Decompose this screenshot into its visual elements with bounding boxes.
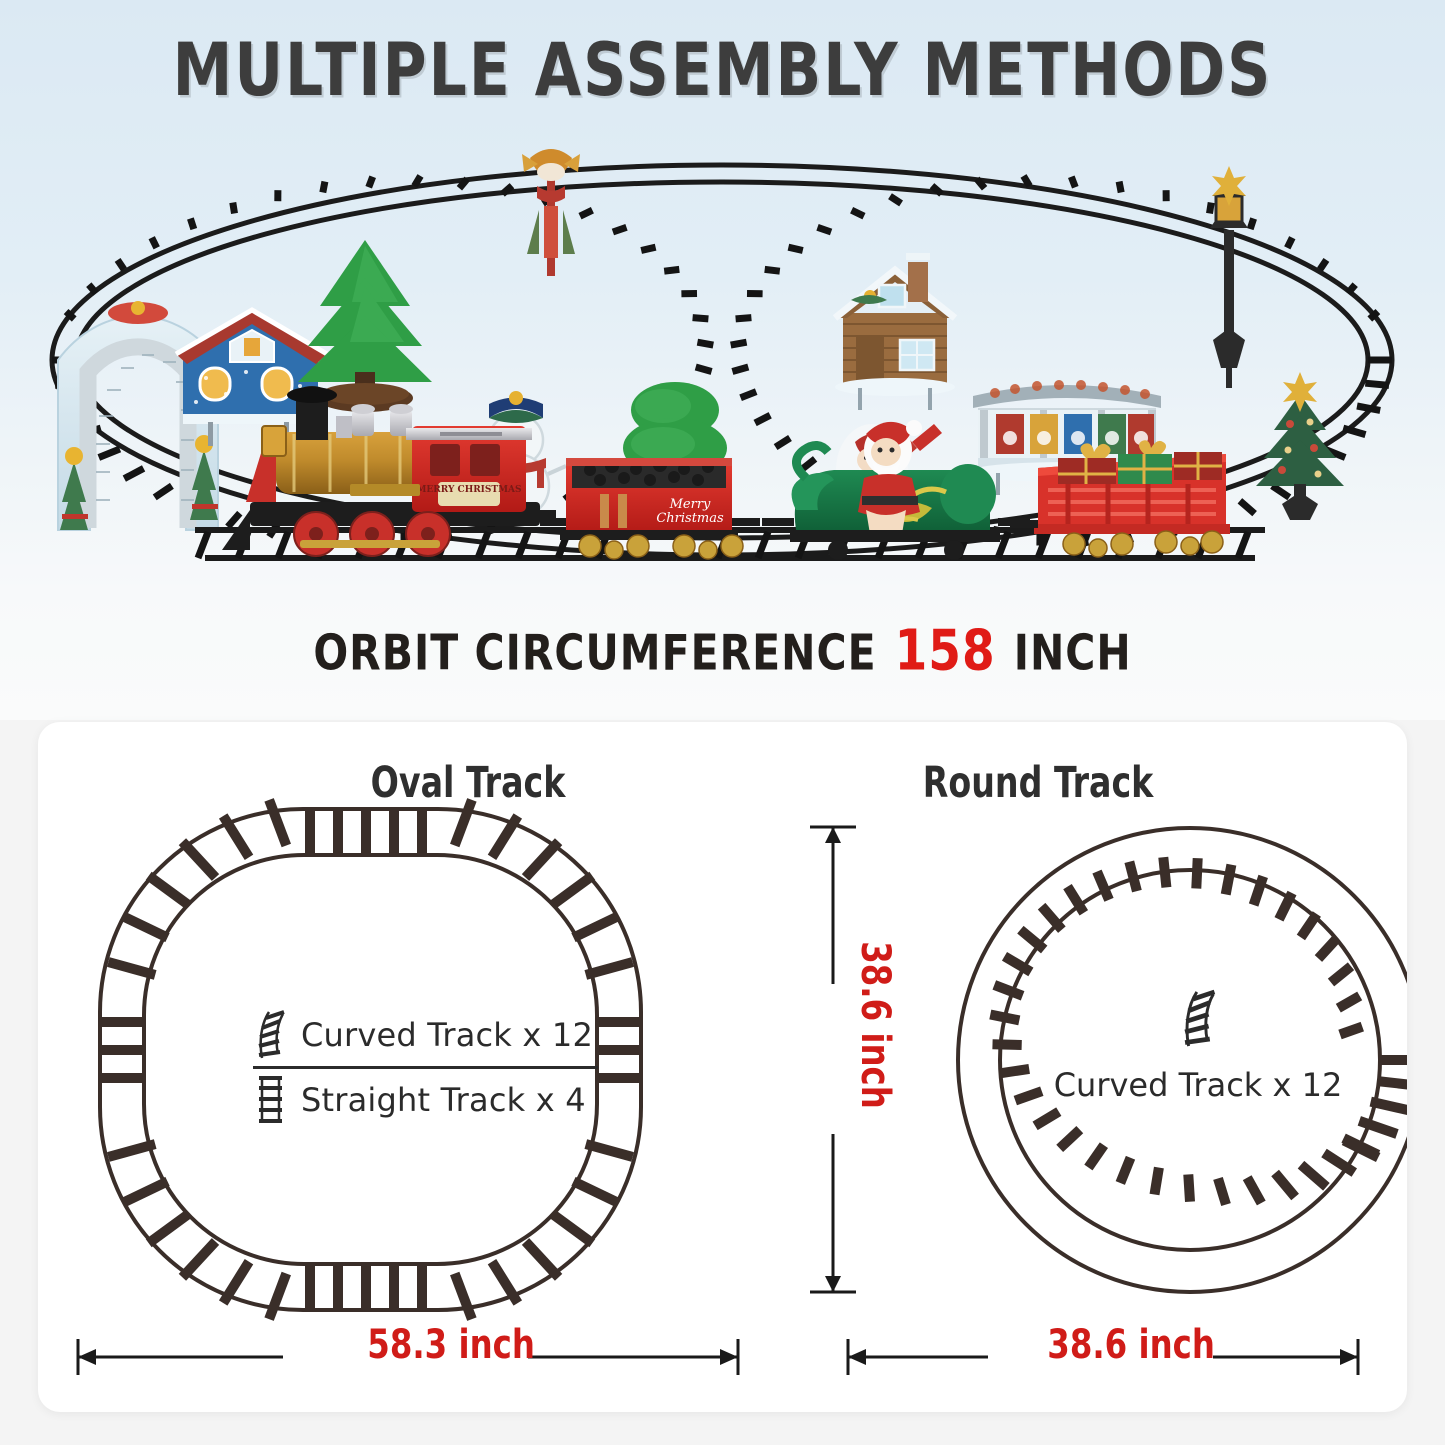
loco-label: MERRY CHRISTMAS [416,485,521,495]
train-scene: MERRY CHRISTMAS [0,110,1445,610]
oval-track-legend: Curved Track x 12 Straight Track x 4 [253,1004,598,1131]
straight-track-label: Straight Track x 4 [301,1081,586,1119]
page-title: MULTIPLE ASSEMBLY METHODS [0,28,1445,113]
oval-width-dimension: 58.3 inch [367,1322,535,1368]
orbit-label-before: ORBIT CIRCUMFERENCE [313,624,876,682]
shared-height-dimension: 38.6 inch [852,941,898,1109]
orbit-value: 158 [895,618,996,684]
orbit-circumference: ORBIT CIRCUMFERENCE158INCH [0,618,1445,684]
christmas-tree-cutout [1256,372,1344,520]
tender-label-line2: Christmas [656,511,724,526]
assembly-card: Oval Track Round Track [38,722,1407,1412]
round-track-legend: Curved Track x 12 [1048,972,1348,1104]
curved-track-icon [253,1010,287,1060]
straight-track-icon [253,1075,287,1125]
round-width-dimension: 38.6 inch [1047,1322,1215,1368]
pine-tree-large [298,240,432,412]
hero-section: MULTIPLE ASSEMBLY METHODS [0,0,1445,720]
round-curved-track-label: Curved Track x 12 [1048,1066,1348,1104]
legend-row-straight: Straight Track x 4 [253,1069,598,1131]
infographic-page: MULTIPLE ASSEMBLY METHODS [0,0,1445,1445]
legend-row-curved: Curved Track x 12 [253,1004,598,1066]
curved-track-icon [1178,988,1218,1050]
round-legend-icon-wrap [1048,972,1348,1050]
orbit-label-after: INCH [1014,624,1132,682]
tender-label-line1: Merry [669,497,711,512]
lamp-post [1210,166,1248,388]
signpost-figure [522,149,580,276]
curved-track-label: Curved Track x 12 [301,1016,593,1054]
log-cabin-cutout [835,253,955,410]
coal-tender-car: Merry Christmas [540,458,760,559]
